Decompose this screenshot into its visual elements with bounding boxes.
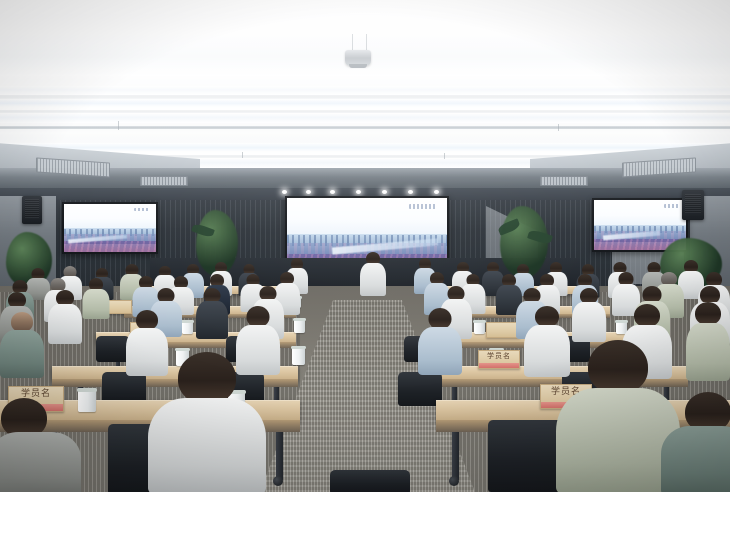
- letterbox-bottom: [0, 492, 730, 548]
- ceiling-light-band: [0, 86, 730, 95]
- attendee-torso: [661, 426, 730, 492]
- attendee: [686, 302, 730, 378]
- cup-lid: [175, 348, 190, 351]
- soffit-downlight: [382, 190, 387, 194]
- photo-frame: 学员名: [0, 0, 730, 548]
- soffit-downlight: [330, 190, 335, 194]
- attendee-foreground-far-right: [650, 392, 730, 492]
- cup-lid: [473, 320, 486, 323]
- attendee-torso: [360, 263, 386, 296]
- attendee-torso: [148, 398, 266, 492]
- chair: [96, 336, 130, 362]
- table-caster: [449, 476, 459, 486]
- attendee-torso: [572, 302, 606, 342]
- soffit-downlight: [356, 190, 361, 194]
- tea-cup: [292, 346, 305, 365]
- attendee-torso: [48, 304, 82, 344]
- attendee-head: [695, 302, 721, 325]
- nameplate-stripe: [479, 363, 519, 368]
- cup-lid: [181, 320, 194, 323]
- attendee-head: [535, 306, 559, 327]
- attendee-head: [11, 312, 33, 332]
- attendee-torso: [686, 323, 730, 381]
- attendee-torso: [82, 289, 109, 319]
- attendee: [82, 278, 109, 316]
- attendee-torso: [0, 432, 81, 492]
- attendee-head: [588, 340, 648, 394]
- ceiling-light-band: [0, 99, 730, 110]
- attendee-head: [429, 308, 452, 329]
- screen-left-image: [64, 204, 156, 252]
- tea-cup: [474, 320, 485, 334]
- conference-room-photo: 学员名: [0, 0, 730, 492]
- speaker-left: [22, 196, 42, 224]
- attendee: [0, 312, 44, 374]
- soffit-downlight: [306, 190, 311, 194]
- led-wall-left[interactable]: [62, 202, 158, 254]
- table-leg: [452, 432, 459, 480]
- nameplate-label: 学员名: [479, 353, 519, 360]
- attendee: [418, 308, 462, 372]
- nameplate-row-3: [486, 322, 520, 338]
- attendee: [572, 288, 606, 338]
- attendee-presenter: [360, 252, 386, 294]
- attendee-foreground-left: [148, 352, 266, 492]
- attendee-torso: [196, 301, 228, 339]
- ceiling-rail: [0, 126, 730, 129]
- screen-watermark-text: [664, 204, 681, 208]
- ceiling-sensor: [444, 153, 445, 159]
- soffit-downlight: [408, 190, 413, 194]
- soffit-downlight: [434, 190, 439, 194]
- screen-watermark-text: [409, 204, 438, 209]
- table-caster: [273, 476, 283, 486]
- attendee: [48, 290, 82, 340]
- attendee-torso: [418, 327, 462, 375]
- attendee-foreground-far-left: [0, 398, 92, 492]
- ceiling-light-band: [0, 113, 730, 123]
- screen-watermark-text: [134, 208, 151, 211]
- cup-lid: [291, 346, 306, 349]
- nameplate-row-4: 学员名: [478, 350, 520, 369]
- ceiling-sensor: [118, 121, 119, 130]
- speaker-right: [682, 190, 704, 220]
- ceiling-sensor: [242, 152, 243, 158]
- ceiling-vent: [140, 176, 188, 186]
- attendee: [196, 288, 228, 336]
- chair-front: [330, 470, 410, 492]
- cup-lid: [77, 388, 97, 392]
- tea-cup: [294, 318, 305, 333]
- attendee-head: [136, 310, 158, 330]
- table-leg: [276, 432, 283, 480]
- ceiling-sensor: [558, 124, 559, 131]
- soffit-downlight: [282, 190, 287, 194]
- attendee-head: [634, 304, 660, 327]
- ceiling-projector-icon: [345, 50, 371, 66]
- attendee-torso: [0, 330, 44, 378]
- ceiling-vent: [540, 176, 588, 186]
- attendee-head: [247, 306, 270, 327]
- tea-cup: [182, 320, 193, 334]
- cup-lid: [293, 318, 306, 321]
- attendee-head: [178, 352, 236, 404]
